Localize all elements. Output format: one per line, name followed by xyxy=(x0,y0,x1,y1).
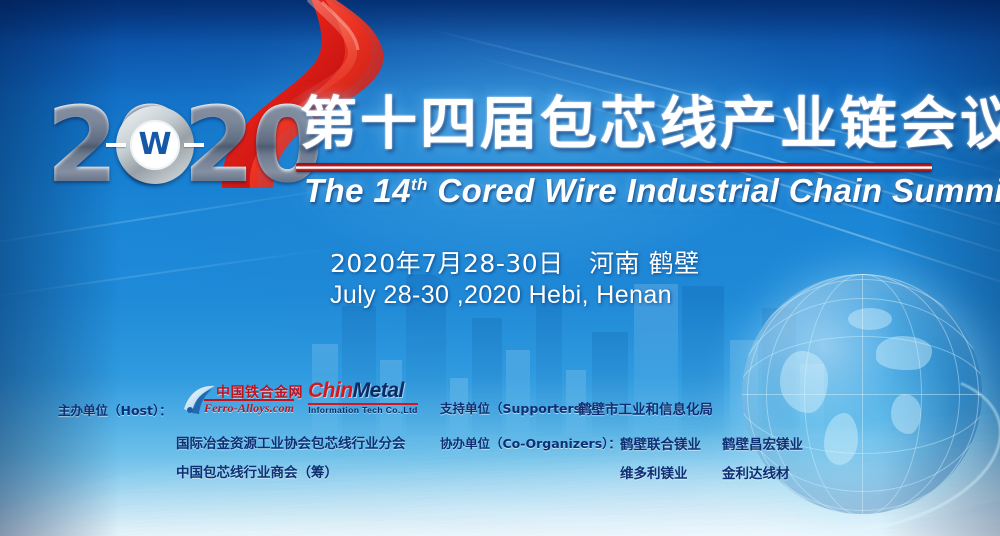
supporters-label: 支持单位（Supporters）： xyxy=(440,398,600,417)
w-emblem-letter: W xyxy=(138,130,171,160)
chinmetal-wordmark-chin: Chin xyxy=(308,379,353,402)
title-english-ordinal: th xyxy=(411,175,428,194)
co-organizer-name-2: 鹤壁昌宏镁业 xyxy=(722,433,803,453)
host-label: 主办单位（Host）： xyxy=(58,400,172,419)
page-title-english: The 14th Cored Wire Industrial Chain Sum… xyxy=(304,172,1000,210)
host-org-line-2: 中国包芯线行业商会（筹） xyxy=(176,461,338,481)
chinmetal-subtitle: Information Tech Co.,Ltd xyxy=(308,405,418,415)
logo-chinmetal: ChinMetal Information Tech Co.,Ltd xyxy=(308,379,420,419)
title-english-suffix: Cored Wire Industrial Chain Summit xyxy=(428,172,1000,209)
event-date-english: July 28-30 ,2020 Hebi, Henan xyxy=(330,281,672,310)
conference-banner: 2020 W 第十四届包芯线产业链会议 The 14th Cored Wire … xyxy=(0,0,1000,536)
supporter-name-1: 鹤壁市工业和信息化局 xyxy=(578,398,713,418)
chinmetal-wordmark-metal: Metal xyxy=(353,379,404,402)
co-organizers-label: 协办单位（Co-Organizers）： xyxy=(440,433,621,452)
chinmetal-wordmark: ChinMetal xyxy=(308,379,404,403)
event-date-chinese: 2020年7月28-30日 河南 鹤壁 xyxy=(330,244,700,280)
co-organizer-name-1: 鹤壁联合镁业 xyxy=(620,433,701,453)
host-org-line-1: 国际冶金资源工业协会包芯线行业分会 xyxy=(176,432,406,452)
w-emblem-icon: W xyxy=(116,106,194,184)
title-divider-bar xyxy=(296,163,932,172)
year-logo-2020: 2020 W xyxy=(46,100,319,190)
logo-ferro-alloys: 中国铁合金网 Ferro-Alloys.com xyxy=(182,381,294,419)
title-english-prefix: The 14 xyxy=(304,172,411,209)
ferro-alloys-name-english: Ferro-Alloys.com xyxy=(204,401,294,416)
page-title-chinese: 第十四届包芯线产业链会议 xyxy=(300,92,1000,156)
w-emblem-inner: W xyxy=(130,120,180,170)
co-organizer-name-4: 金利达线材 xyxy=(722,462,790,482)
co-organizer-name-3: 维多利镁业 xyxy=(620,462,688,482)
